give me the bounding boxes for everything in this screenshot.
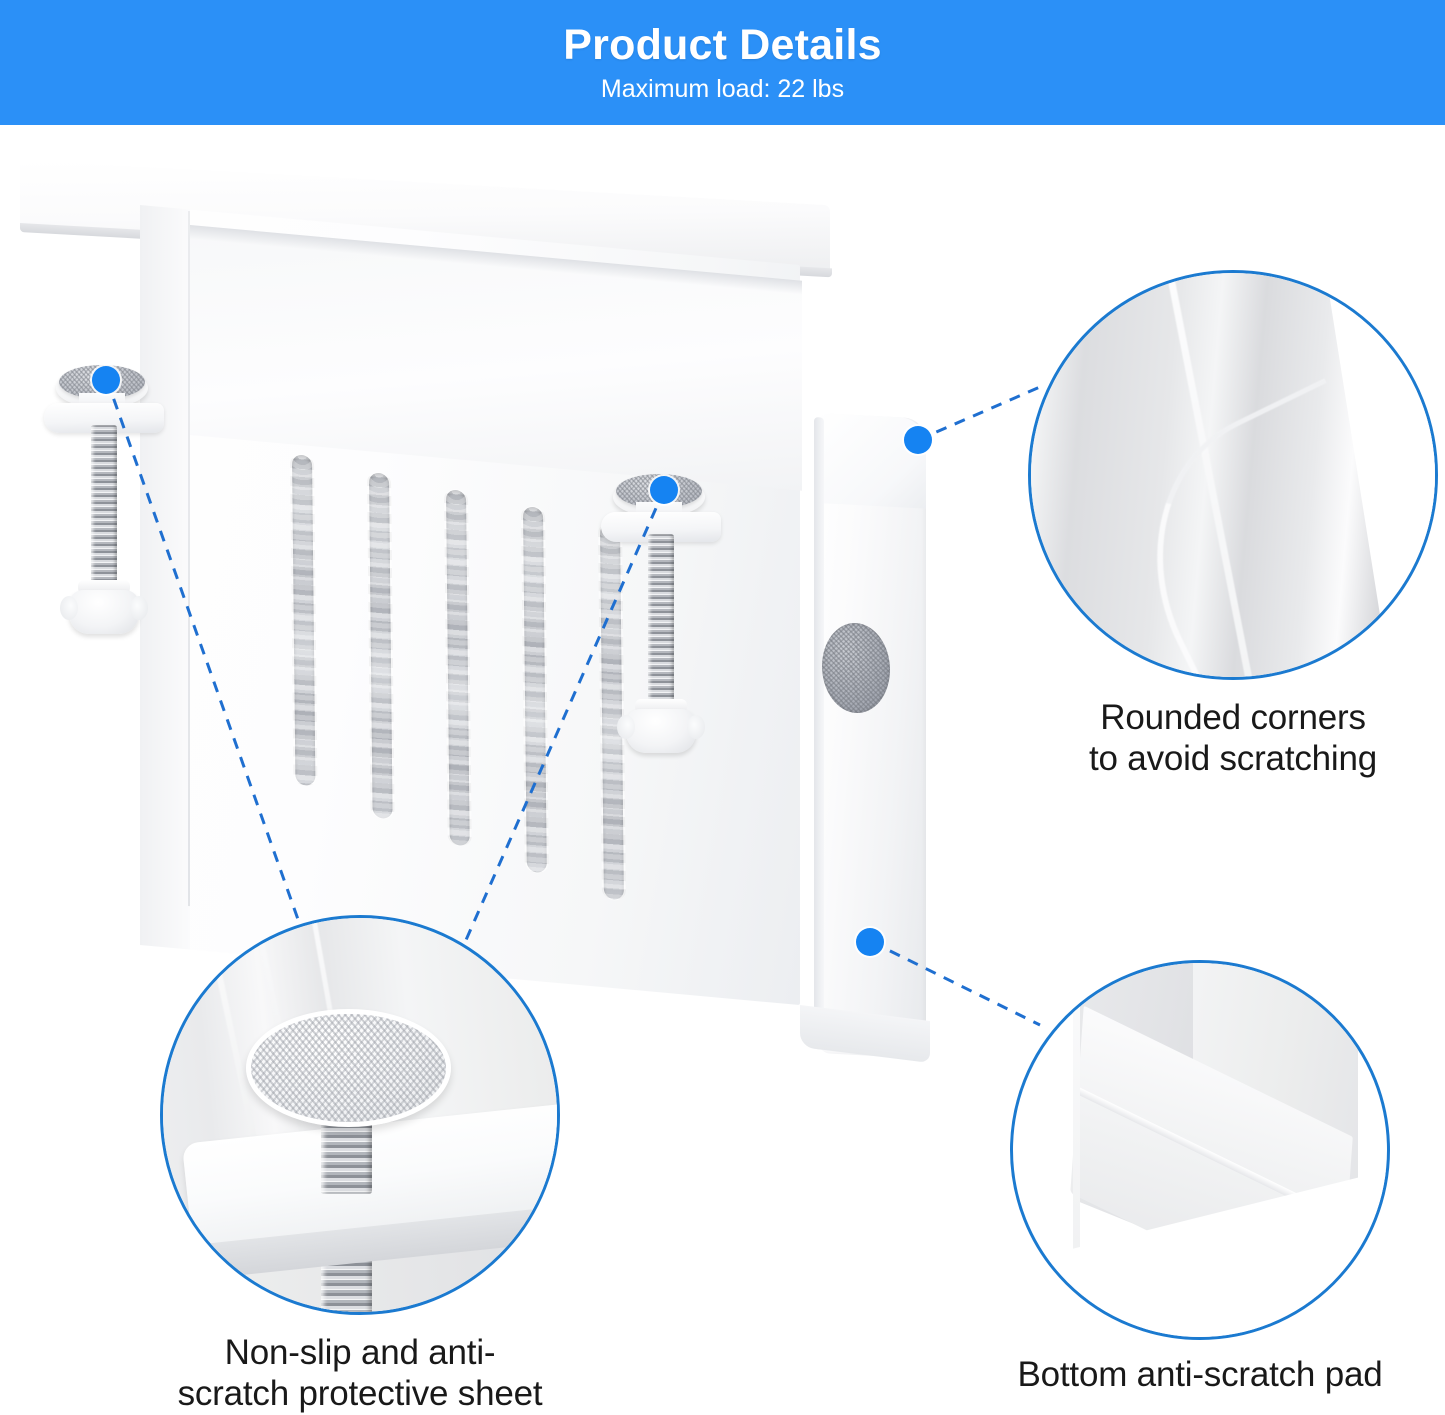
clamp-screw-right [648,534,674,719]
caption-line-1: Non-slip and anti- [125,1333,595,1374]
vent-slot [600,523,624,900]
header-banner: Product Details Maximum load: 22 lbs [0,0,1445,125]
clamp-knob-left [69,590,139,634]
vent-slot [523,506,547,873]
vent-slot [292,454,315,786]
clamp-knob-right [626,709,696,753]
header-subtitle: Maximum load: 22 lbs [601,77,844,102]
vent-slot [446,489,470,846]
detail-circle-bottom-pad [1010,960,1390,1340]
detail-circle-non-slip-sheet [160,915,560,1315]
page-title: Product Details [563,23,881,68]
clamp-screw-left [91,425,117,600]
caption-bottom-anti-scratch-pad: Bottom anti-scratch pad [1000,1355,1400,1396]
caption-line-2: to avoid scratching [1028,739,1438,780]
shelf-fold-line [188,211,190,906]
non-slip-pad-icon [246,1009,451,1127]
detail-circle-rounded-corners [1028,270,1438,680]
caption-line-1: Bottom anti-scratch pad [1000,1355,1400,1396]
vent-slot [369,472,393,819]
caption-rounded-corners: Rounded corners to avoid scratching [1028,698,1438,780]
callout-marker-right-clamp-pad[interactable] [650,476,678,504]
caption-line-2: scratch protective sheet [125,1374,595,1415]
shelf-side-wall-inner-edge [814,417,824,1050]
callout-marker-left-clamp-pad[interactable] [92,366,120,394]
caption-non-slip-sheet: Non-slip and anti- scratch protective sh… [125,1333,595,1415]
shelf-back-panel-shading [140,205,190,950]
caption-line-1: Rounded corners [1028,698,1438,739]
shelf-side-wall [818,413,926,1059]
product-image-main [0,125,1000,985]
product-illustration-stage: Rounded corners to avoid scratching Non-… [0,125,1445,1407]
callout-marker-bottom-pad[interactable] [856,928,884,956]
callout-marker-rounded-corners[interactable] [904,426,932,454]
